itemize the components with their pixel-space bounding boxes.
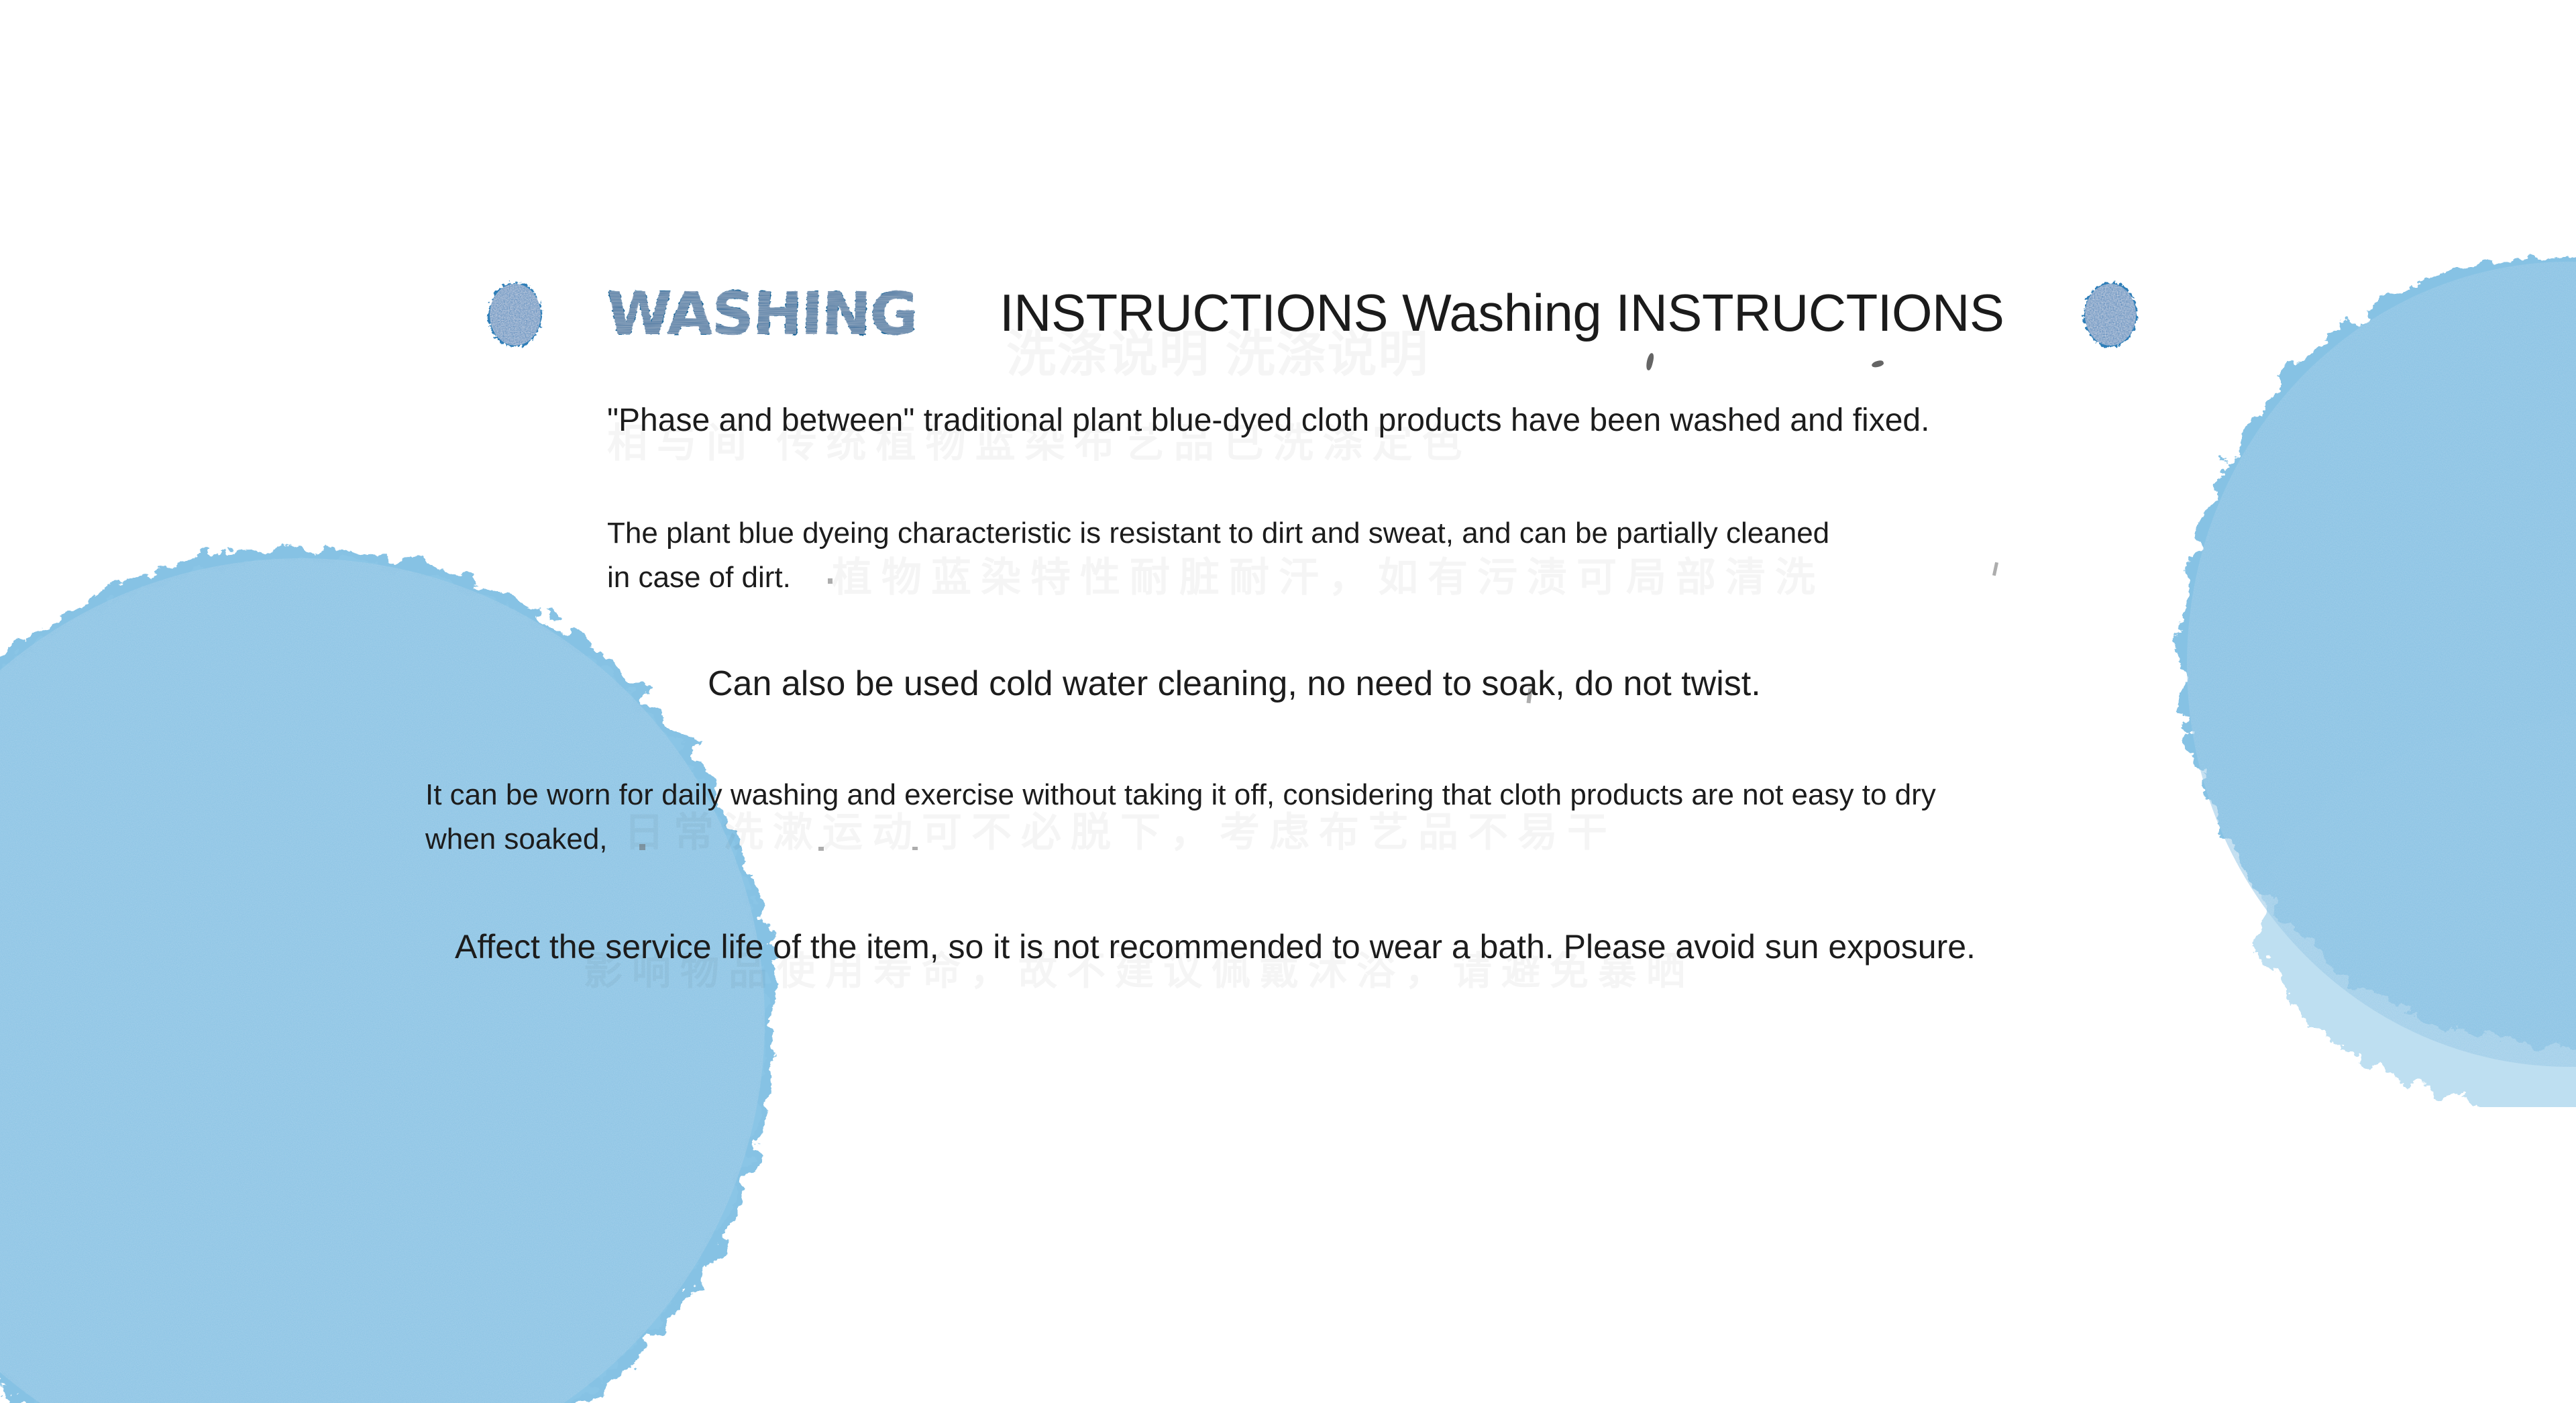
instruction-paragraph-4: It can be worn for daily washing and exe…: [425, 773, 1936, 862]
instruction-paragraph-3: Can also be used cold water cleaning, no…: [708, 662, 1761, 706]
washing-instructions-page: 洗涤说明 洗涤说明: [0, 0, 2576, 1403]
instruction-paragraph-5: Affect the service life of the item, so …: [455, 925, 1976, 969]
stray-mark: [818, 847, 824, 851]
ink-dot-icon-left: [478, 274, 553, 356]
ink-smudge-mark: [1645, 352, 1655, 370]
instruction-paragraph-1: "Phase and between" traditional plant bl…: [607, 399, 1929, 443]
page-title: INSTRUCTIONS Washing INSTRUCTIONS: [1000, 275, 2004, 350]
instruction-paragraph-2: The plant blue dyeing characteristic is …: [607, 511, 1829, 600]
ink-smudge-mark: [1871, 359, 1884, 368]
brand-washing-script: WASHING WASHING: [604, 274, 959, 353]
ink-dot-icon-right: [2073, 274, 2148, 356]
stray-mark: [912, 847, 918, 850]
watercolor-blob-right: [2140, 221, 2576, 1107]
stray-mark: [639, 844, 645, 850]
svg-text:WASHING: WASHING: [605, 279, 918, 348]
stray-mark: [828, 578, 833, 584]
page-header: 洗涤说明 洗涤说明: [0, 132, 2576, 232]
stray-mark: [1992, 562, 1998, 576]
